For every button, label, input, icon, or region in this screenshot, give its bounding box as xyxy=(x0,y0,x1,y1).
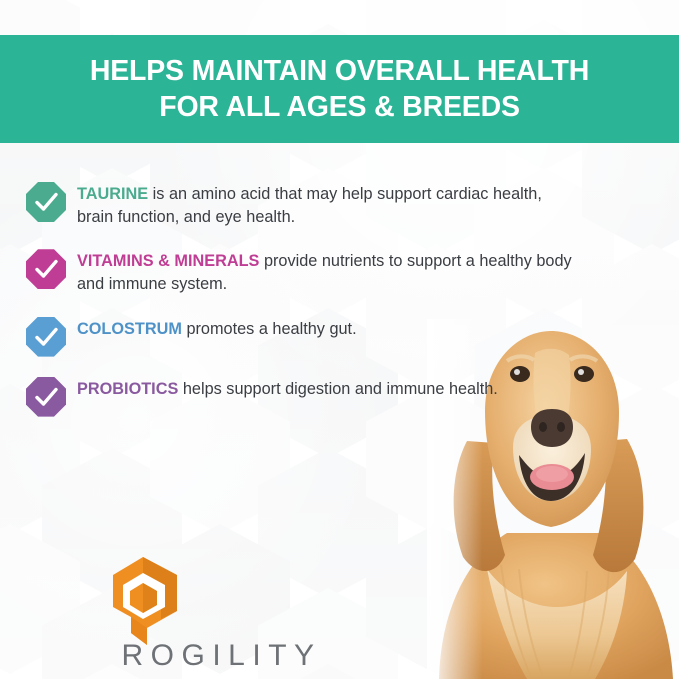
check-octagon-icon xyxy=(26,182,66,222)
headline-line-2: FOR ALL AGES & BREEDS xyxy=(159,89,520,125)
brand-wordmark: PROGILITY xyxy=(94,641,322,671)
benefit-text: VITAMINS & MINERALS provide nutrients to… xyxy=(77,247,582,296)
check-octagon-icon xyxy=(26,317,66,357)
benefit-text: PROBIOTICS helps support digestion and i… xyxy=(77,375,498,401)
benefit-item-taurine: TAURINE is an amino acid that may help s… xyxy=(0,180,679,229)
check-octagon-icon xyxy=(26,377,66,417)
benefit-item-vitamins-minerals: VITAMINS & MINERALS provide nutrients to… xyxy=(0,247,679,296)
progility-hexagon-p-logo xyxy=(105,555,181,647)
brand-logo-block: PROGILITY xyxy=(96,555,322,671)
product-infographic: HELPS MAINTAIN OVERALL HEALTH FOR ALL AG… xyxy=(0,0,679,679)
benefit-text: TAURINE is an amino acid that may help s… xyxy=(77,180,582,229)
benefit-text: COLOSTRUM promotes a healthy gut. xyxy=(77,315,357,341)
benefit-keyword: VITAMINS & MINERALS xyxy=(77,252,259,270)
benefit-item-colostrum: COLOSTRUM promotes a healthy gut. xyxy=(0,315,679,357)
headline-line-1: HELPS MAINTAIN OVERALL HEALTH xyxy=(90,53,589,89)
benefit-description: helps support digestion and immune healt… xyxy=(178,380,498,398)
benefit-item-probiotics: PROBIOTICS helps support digestion and i… xyxy=(0,375,679,417)
wordmark-text: ROGILITY xyxy=(122,639,322,672)
benefit-description: promotes a healthy gut. xyxy=(182,320,357,338)
check-octagon-icon xyxy=(26,249,66,289)
benefit-keyword: COLOSTRUM xyxy=(77,320,182,338)
benefit-keyword: TAURINE xyxy=(77,185,148,203)
benefits-list: TAURINE is an amino acid that may help s… xyxy=(0,180,679,435)
headline-banner: HELPS MAINTAIN OVERALL HEALTH FOR ALL AG… xyxy=(0,35,679,143)
benefit-keyword: PROBIOTICS xyxy=(77,380,178,398)
